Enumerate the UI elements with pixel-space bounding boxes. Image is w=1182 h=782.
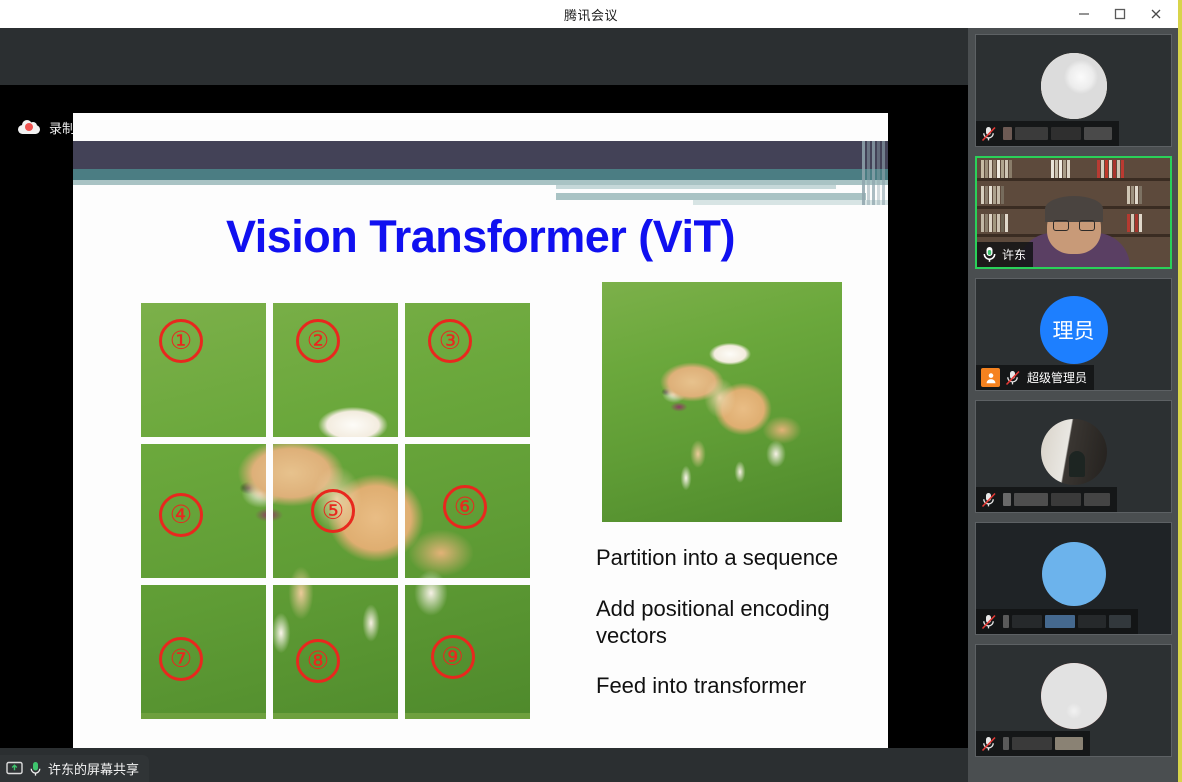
participant-tile-5[interactable] bbox=[975, 522, 1172, 635]
screen-share-label: 许东的屏幕共享 bbox=[48, 759, 139, 778]
window-title: 腾讯会议 bbox=[564, 5, 618, 24]
patch-number: ⑤ bbox=[311, 489, 355, 533]
patch-9: ⑨ bbox=[405, 585, 530, 719]
screen-share-status: 许东的屏幕共享 bbox=[0, 755, 149, 782]
participant-namebar bbox=[976, 731, 1090, 756]
participant-name: 许东 bbox=[1002, 246, 1026, 263]
participant-name-redacted bbox=[1003, 615, 1131, 628]
presentation-slide: Vision Transformer (ViT) ① ② ③ ④ ⑤ ⑥ ⑦ ⑧… bbox=[73, 113, 888, 750]
avatar: 理员 bbox=[1040, 296, 1108, 364]
participant-name-redacted bbox=[1003, 493, 1110, 506]
participant-namebar bbox=[976, 487, 1117, 512]
slide-vertical-stripes bbox=[860, 141, 888, 205]
avatar bbox=[1041, 663, 1107, 729]
source-image bbox=[602, 282, 842, 522]
patch-5: ⑤ bbox=[273, 444, 398, 578]
slide-bullet: Partition into a sequence bbox=[596, 545, 886, 572]
slide-accent-stripe-c bbox=[693, 200, 888, 205]
slide-header-dark-band bbox=[73, 141, 888, 169]
participant-name-redacted bbox=[1003, 127, 1112, 140]
patch-number: ⑨ bbox=[431, 635, 475, 679]
avatar bbox=[1041, 53, 1107, 119]
patch-number: ⑥ bbox=[443, 485, 487, 529]
avatar-initials: 理员 bbox=[1040, 296, 1108, 364]
maximize-icon[interactable] bbox=[1102, 0, 1138, 28]
slide-title: Vision Transformer (ViT) bbox=[73, 211, 888, 263]
participant-tile-4[interactable] bbox=[975, 400, 1172, 513]
mic-muted-icon bbox=[981, 492, 998, 508]
patch-8: ⑧ bbox=[273, 585, 398, 719]
patch-7: ⑦ bbox=[141, 585, 266, 719]
tencent-meeting-window: 腾讯会议 录制中 bbox=[0, 0, 1182, 782]
window-controls bbox=[1066, 0, 1174, 28]
mic-muted-icon bbox=[1005, 370, 1022, 386]
microphone-icon bbox=[29, 761, 42, 777]
patch-number: ④ bbox=[159, 493, 203, 537]
close-icon[interactable] bbox=[1138, 0, 1174, 28]
participant-tile-6[interactable] bbox=[975, 644, 1172, 757]
participant-namebar: 许东 bbox=[977, 242, 1033, 267]
patch-3: ③ bbox=[405, 303, 530, 437]
avatar bbox=[1041, 419, 1107, 485]
participant-tile-2[interactable]: 许东 bbox=[975, 156, 1172, 269]
participant-name: 超级管理员 bbox=[1027, 369, 1087, 386]
microphone-icon bbox=[982, 246, 997, 263]
title-bar: 腾讯会议 bbox=[0, 0, 1182, 28]
host-badge-icon bbox=[981, 368, 1000, 387]
patch-6: ⑥ bbox=[405, 444, 530, 578]
screen-share-icon bbox=[6, 761, 23, 776]
cloud-record-icon bbox=[18, 120, 40, 134]
mic-muted-icon bbox=[981, 736, 998, 752]
patch-4: ④ bbox=[141, 444, 266, 578]
patch-number: ① bbox=[159, 319, 203, 363]
window-edge-highlight bbox=[1178, 0, 1182, 782]
stage-top-band bbox=[0, 28, 968, 85]
patch-number: ⑧ bbox=[296, 639, 340, 683]
avatar bbox=[1042, 542, 1106, 606]
patch-2: ② bbox=[273, 303, 398, 437]
participant-tile-3[interactable]: 理员 超级管理员 bbox=[975, 278, 1172, 391]
minimize-icon[interactable] bbox=[1066, 0, 1102, 28]
patch-number: ③ bbox=[428, 319, 472, 363]
slide-bullet-list: Partition into a sequence Add positional… bbox=[596, 545, 886, 724]
patch-number: ⑦ bbox=[159, 637, 203, 681]
slide-bullet: Add positional encoding vectors bbox=[596, 596, 886, 650]
slide-accent-stripe-b bbox=[556, 193, 866, 200]
patch-number: ② bbox=[296, 319, 340, 363]
participant-namebar bbox=[976, 121, 1119, 146]
participant-rail[interactable]: 许东 理员 超级管理员 bbox=[968, 28, 1178, 782]
slide-accent-stripe-a bbox=[556, 185, 836, 189]
shared-screen-stage[interactable]: 录制中 Vision Transformer (ViT) ① ② ③ ④ ⑤ bbox=[0, 28, 968, 748]
participant-namebar bbox=[976, 609, 1138, 634]
participant-tile-1[interactable] bbox=[975, 34, 1172, 147]
mic-muted-icon bbox=[981, 126, 998, 142]
patch-grid: ① ② ③ ④ ⑤ ⑥ ⑦ ⑧ ⑨ bbox=[141, 303, 550, 721]
patch-1: ① bbox=[141, 303, 266, 437]
slide-bullet: Feed into transformer bbox=[596, 673, 886, 700]
participant-name-redacted bbox=[1003, 737, 1083, 750]
mic-muted-icon bbox=[981, 614, 998, 630]
participant-namebar: 超级管理员 bbox=[976, 365, 1094, 390]
